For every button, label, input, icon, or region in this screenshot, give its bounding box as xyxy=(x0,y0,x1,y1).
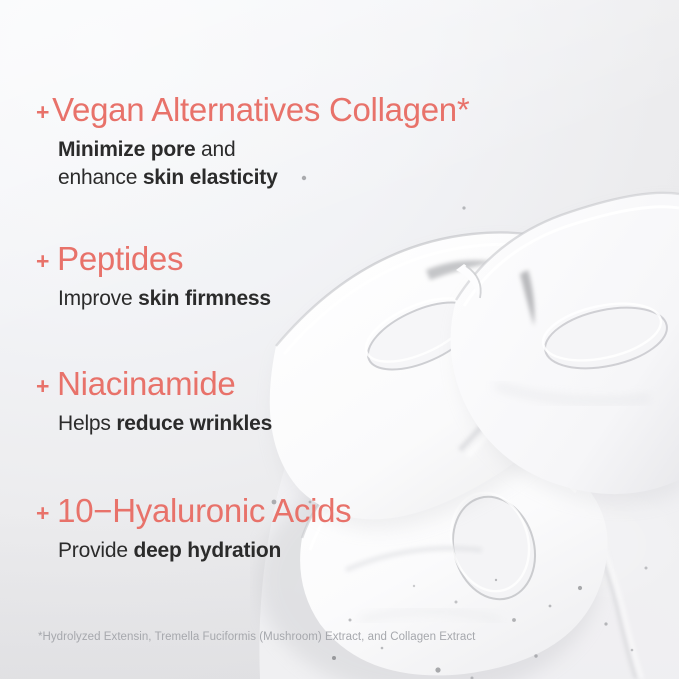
feature-description-normal: enhance xyxy=(58,166,143,189)
feature-heading-label: Vegan Alternatives Collagen* xyxy=(52,92,469,129)
feature-heading: + 10−Hyaluronic Acids xyxy=(36,493,351,530)
feature-description: Improve skin firmness xyxy=(58,285,271,313)
product-feature-graphic: + Vegan Alternatives Collagen* Minimize … xyxy=(0,0,679,679)
feature-heading: + Peptides xyxy=(36,241,271,278)
feature-description-bold: reduce wrinkles xyxy=(116,412,272,435)
feature-description-line-2: enhance skin elasticity xyxy=(58,164,469,192)
plus-icon: + xyxy=(36,100,49,126)
feature-heading: + Vegan Alternatives Collagen* xyxy=(36,92,469,129)
feature-description-bold: skin firmness xyxy=(138,287,271,310)
feature-description-normal: Improve xyxy=(58,287,138,310)
plus-icon: + xyxy=(36,501,49,527)
feature-description-line-1: Improve skin firmness xyxy=(58,285,271,313)
feature-description-line-1: Helps reduce wrinkles xyxy=(58,410,272,438)
sheet-mask-photo xyxy=(250,150,679,679)
footnote: *Hydrolyzed Extensin, Tremella Fuciformi… xyxy=(38,631,475,643)
feature-heading: + Niacinamide xyxy=(36,366,272,403)
feature-block-peptides: + Peptides Improve skin firmness xyxy=(36,241,271,313)
plus-icon: + xyxy=(36,374,49,400)
feature-heading-label: 10−Hyaluronic Acids xyxy=(57,493,351,530)
feature-heading-label: Niacinamide xyxy=(57,366,235,403)
feature-block-hyaluronic-acids: + 10−Hyaluronic Acids Provide deep hydra… xyxy=(36,493,351,565)
feature-block-vegan-collagen: + Vegan Alternatives Collagen* Minimize … xyxy=(36,92,469,192)
feature-description-bold: skin elasticity xyxy=(143,166,278,189)
feature-description-line-1: Minimize pore and xyxy=(58,136,469,164)
feature-description-bold: Minimize pore xyxy=(58,138,195,161)
plus-icon: + xyxy=(36,249,49,275)
feature-description: Provide deep hydration xyxy=(58,537,351,565)
feature-description-bold: deep hydration xyxy=(133,539,281,562)
feature-description-tail: and xyxy=(195,138,235,161)
feature-heading-label: Peptides xyxy=(57,241,183,278)
feature-description: Helps reduce wrinkles xyxy=(58,410,272,438)
feature-description: Minimize pore and enhance skin elasticit… xyxy=(58,136,469,192)
feature-block-niacinamide: + Niacinamide Helps reduce wrinkles xyxy=(36,366,272,438)
feature-description-line-1: Provide deep hydration xyxy=(58,537,351,565)
feature-description-normal: Provide xyxy=(58,539,133,562)
feature-description-normal: Helps xyxy=(58,412,116,435)
